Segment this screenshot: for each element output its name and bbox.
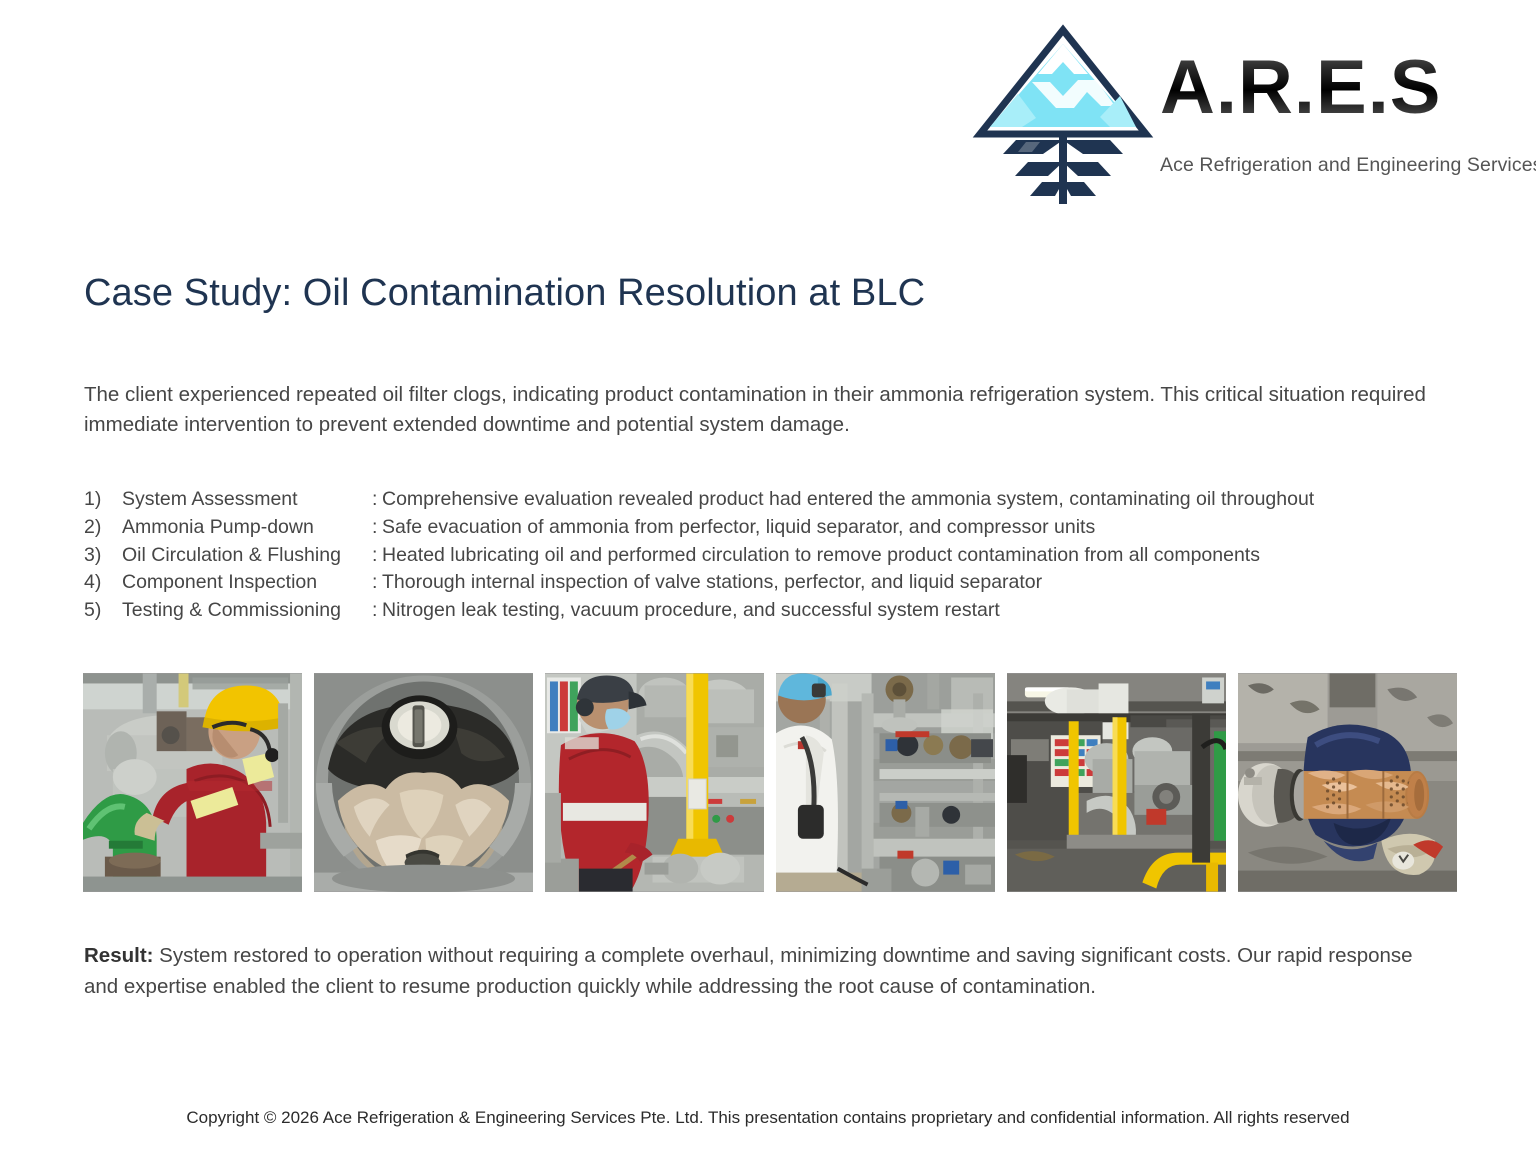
logo-wordmark: A.R.E.S <box>1160 40 1488 140</box>
process-steps-list: 1) System Assessment : Comprehensive eva… <box>84 486 1464 625</box>
step-number: 1) <box>84 486 122 514</box>
step-colon: : <box>372 569 382 597</box>
photo-gallery-strip <box>83 673 1457 892</box>
list-item: 5) Testing & Commissioning : Nitrogen le… <box>84 597 1464 625</box>
step-number: 3) <box>84 542 122 570</box>
result-label: Result: <box>84 944 153 967</box>
list-item: 3) Oil Circulation & Flushing : Heated l… <box>84 542 1464 570</box>
step-label: Oil Circulation & Flushing <box>122 542 372 570</box>
intro-paragraph: The client experienced repeated oil filt… <box>84 380 1456 440</box>
page-title: Case Study: Oil Contamination Resolution… <box>84 272 1284 315</box>
step-label: Component Inspection <box>122 569 372 597</box>
step-description: Safe evacuation of ammonia from perfecto… <box>382 514 1095 542</box>
step-description: Heated lubricating oil and performed cir… <box>382 542 1260 570</box>
photo-technician-red-coverall-yellow-helmet <box>83 673 302 892</box>
step-number: 2) <box>84 514 122 542</box>
step-colon: : <box>372 542 382 570</box>
result-text: System restored to operation without req… <box>84 944 1413 998</box>
list-item: 1) System Assessment : Comprehensive eva… <box>84 486 1464 514</box>
list-item: 2) Ammonia Pump-down : Safe evacuation o… <box>84 514 1464 542</box>
step-number: 5) <box>84 597 122 625</box>
photo-machine-room-compressor-yellow-rails <box>1007 673 1226 892</box>
photo-contaminated-oil-filter-element <box>1238 673 1457 892</box>
footer-copyright: Copyright © 2026 Ace Refrigeration & Eng… <box>0 1108 1536 1128</box>
company-logo: A.R.E.S Ace Refrigeration and Engineerin… <box>960 14 1490 210</box>
result-paragraph: Result: System restored to operation wit… <box>84 940 1434 1002</box>
step-label: Ammonia Pump-down <box>122 514 372 542</box>
step-label: System Assessment <box>122 486 372 514</box>
photo-inspector-white-coat-valve-station <box>776 673 995 892</box>
logo-tagline: Ace Refrigeration and Engineering Servic… <box>1160 154 1488 177</box>
step-colon: : <box>372 514 382 542</box>
step-colon: : <box>372 486 382 514</box>
step-number: 4) <box>84 569 122 597</box>
step-description: Nitrogen leak testing, vacuum procedure,… <box>382 597 1000 625</box>
photo-vessel-interior-contamination <box>314 673 533 892</box>
step-label: Testing & Commissioning <box>122 597 372 625</box>
list-item: 4) Component Inspection : Thorough inter… <box>84 569 1464 597</box>
step-colon: : <box>372 597 382 625</box>
step-description: Thorough internal inspection of valve st… <box>382 569 1042 597</box>
photo-technician-yellow-bollard-pipework <box>545 673 764 892</box>
step-description: Comprehensive evaluation revealed produc… <box>382 486 1314 514</box>
mountain-snowflake-logo-icon <box>970 22 1156 208</box>
